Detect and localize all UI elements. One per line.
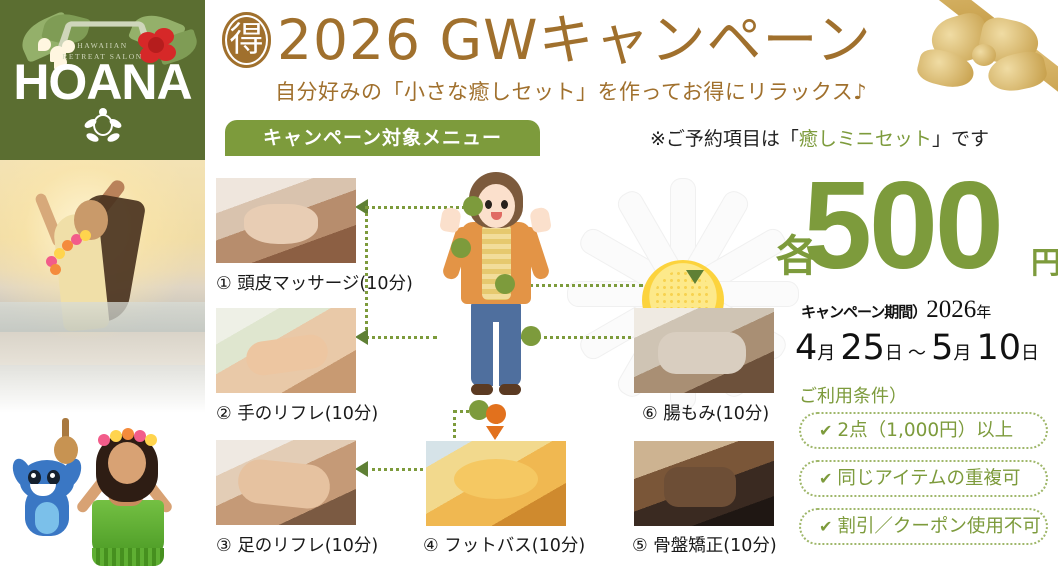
note-suffix: 」です <box>932 128 989 150</box>
date-range-separator: ～ <box>908 343 926 364</box>
turtle-icon <box>84 108 122 144</box>
intestinal-massage-photo <box>634 308 774 393</box>
end-month-unit: 月 <box>953 343 971 364</box>
campaign-period-dates: 4月 25日 ～ 5月 10日 <box>795 328 1039 368</box>
end-day: 10 <box>976 328 1021 368</box>
arrow-left-icon <box>355 329 368 345</box>
foot-bath-photo <box>426 441 566 526</box>
menu-label-3: ③ 足のリフレ(10分) <box>216 532 378 557</box>
check-icon: ✔ <box>819 469 832 488</box>
body-marker-abdomen <box>495 274 515 294</box>
scalp-massage-photo <box>216 178 356 263</box>
price-panel: 各 500 円 キャンペーン期間）2026年 4月 25日 ～ 5月 10日 ご… <box>785 160 1058 567</box>
end-month: 5 <box>931 328 953 368</box>
note-prefix: ※ご予約項目は「 <box>650 128 799 150</box>
flower-lei-icon <box>44 226 96 274</box>
banner-body: ① 頭皮マッサージ(10分) ② 手のリフレ(10分) ③ 足のリフレ(10分)… <box>205 160 1058 567</box>
start-day: 25 <box>840 328 885 368</box>
toku-badge-icon: 得 <box>222 12 271 68</box>
price-currency: 円 <box>1031 238 1058 282</box>
menu-label-4: ④ フットバス(10分) <box>423 532 585 557</box>
condition-item-1: ✔2点（1,000円）以上 <box>799 412 1048 449</box>
period-label-text: キャンペーン期間） <box>801 303 926 321</box>
banner-header: 得 2026 GWキャンペーン 自分好みの「小さな癒しセット」を作ってお得にリラ… <box>205 0 1058 160</box>
body-marker-head <box>463 196 483 216</box>
menu-label-2: ② 手のリフレ(10分) <box>216 400 378 425</box>
note-highlight: 癒しミニセット <box>799 128 932 150</box>
body-marker-footbath <box>486 404 506 424</box>
hula-girl-character <box>66 428 186 564</box>
pelvic-correction-photo <box>634 441 774 526</box>
conditions-heading: ご利用条件） <box>799 382 907 408</box>
salon-logo: HAWAIIAN RETREAT SALON HOANA <box>0 0 205 160</box>
arrow-down-icon <box>486 426 504 440</box>
arrow-down-icon <box>686 270 704 284</box>
start-month: 4 <box>795 328 817 368</box>
menu-label-1: ① 頭皮マッサージ(10分) <box>216 270 413 295</box>
start-day-unit: 日 <box>885 343 903 364</box>
logo-brand-name: HOANA <box>0 56 205 108</box>
connector-line <box>365 336 437 339</box>
gold-ribbon-bow-icon <box>898 0 1058 120</box>
end-day-unit: 日 <box>1021 343 1039 364</box>
start-month-unit: 月 <box>817 343 835 364</box>
flower-crown-icon <box>96 430 158 448</box>
reservation-note: ※ご予約項目は「癒しミニセット」です <box>650 126 989 152</box>
menu-label-5: ⑤ 骨盤矯正(10分) <box>632 532 777 557</box>
check-icon: ✔ <box>819 517 832 536</box>
condition-text-3: 割引／クーポン使用不可 <box>837 516 1041 537</box>
campaign-period-label: キャンペーン期間）2026年 <box>801 296 991 324</box>
body-marker-hand <box>451 238 471 258</box>
target-menu-tab: キャンペーン対象メニュー <box>225 120 540 156</box>
campaign-banner: HAWAIIAN RETREAT SALON HOANA <box>0 0 1058 567</box>
price-amount: 500 <box>803 164 1001 288</box>
campaign-title: 2026 GWキャンペーン <box>277 8 872 72</box>
period-year-unit: 年 <box>976 303 991 321</box>
character-illustrations <box>0 380 205 567</box>
check-icon: ✔ <box>819 421 832 440</box>
campaign-subtitle: 自分好みの「小さな癒しセット」を作ってお得にリラックス♪ <box>275 78 867 106</box>
hand-reflexology-photo <box>216 308 356 393</box>
condition-text-2: 同じアイテムの重複可 <box>837 468 1020 489</box>
menu-label-6: ⑥ 腸もみ(10分) <box>642 400 769 425</box>
condition-item-2: ✔同じアイテムの重複可 <box>799 460 1048 497</box>
hula-dancer-sunset-photo <box>0 160 205 365</box>
standing-woman-illustration <box>437 170 555 420</box>
condition-text-1: 2点（1,000円）以上 <box>837 420 1013 441</box>
arrow-left-icon <box>355 461 368 477</box>
left-column: HAWAIIAN RETREAT SALON HOANA <box>0 0 205 567</box>
body-marker-pelvis <box>521 326 541 346</box>
condition-item-3: ✔割引／クーポン使用不可 <box>799 508 1048 545</box>
foot-reflexology-photo <box>216 440 356 525</box>
period-year: 2026 <box>926 296 976 323</box>
